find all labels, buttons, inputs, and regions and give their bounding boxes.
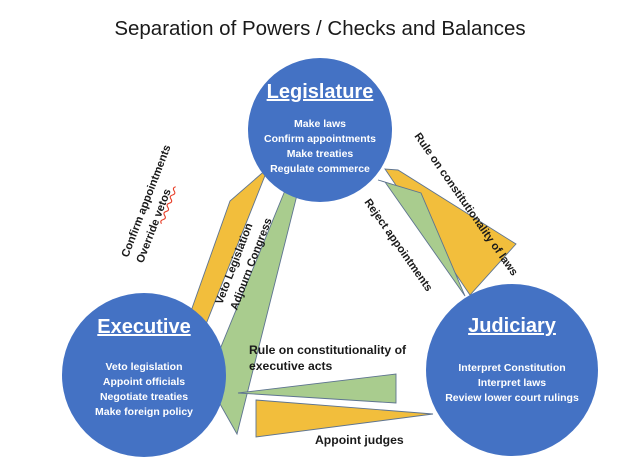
label-judiciary-to-executive-line-1: executive acts [249, 359, 333, 373]
arrow-executive-to-judiciary [256, 400, 433, 437]
legislature-power-1: Confirm appointments [264, 133, 376, 145]
label-legislature-to-executive: Confirm appointments Override vetos [120, 143, 190, 265]
page-title: Separation of Powers / Checks and Balanc… [114, 17, 525, 40]
judiciary-power-1: Interpret laws [478, 377, 546, 389]
judiciary-title: Judiciary [468, 315, 557, 337]
label-executive-to-judiciary-line-0: Appoint judges [315, 433, 404, 447]
executive-power-0: Veto legislation [105, 361, 182, 373]
judiciary-power-0: Interpret Constitution [458, 362, 565, 374]
legislature-power-3: Regulate commerce [270, 163, 370, 175]
label-judiciary-to-executive-line-0: Rule on constitutionality of [249, 343, 407, 357]
legislature-title: Legislature [267, 81, 374, 103]
node-executive[interactable]: Executive Veto legislation Appoint offic… [62, 293, 226, 457]
judiciary-power-2: Review lower court rulings [445, 392, 579, 404]
separation-of-powers-diagram: Separation of Powers / Checks and Balanc… [0, 0, 640, 462]
node-judiciary[interactable]: Judiciary Interpret Constitution Interpr… [426, 284, 598, 456]
label-judiciary-to-executive: Rule on constitutionality of executive a… [249, 343, 407, 373]
executive-power-3: Make foreign policy [95, 406, 193, 418]
legislature-power-0: Make laws [294, 118, 346, 130]
diagram-canvas: Separation of Powers / Checks and Balanc… [0, 0, 640, 462]
node-legislature[interactable]: Legislature Make laws Confirm appointmen… [248, 58, 392, 202]
executive-title: Executive [97, 316, 190, 338]
arrow-judiciary-to-executive [238, 374, 396, 403]
executive-power-1: Appoint officials [103, 376, 185, 388]
label-executive-to-judiciary: Appoint judges [315, 433, 404, 447]
executive-power-2: Negotiate treaties [100, 391, 188, 403]
legislature-power-2: Make treaties [287, 148, 354, 160]
legislature-circle[interactable] [248, 58, 392, 202]
